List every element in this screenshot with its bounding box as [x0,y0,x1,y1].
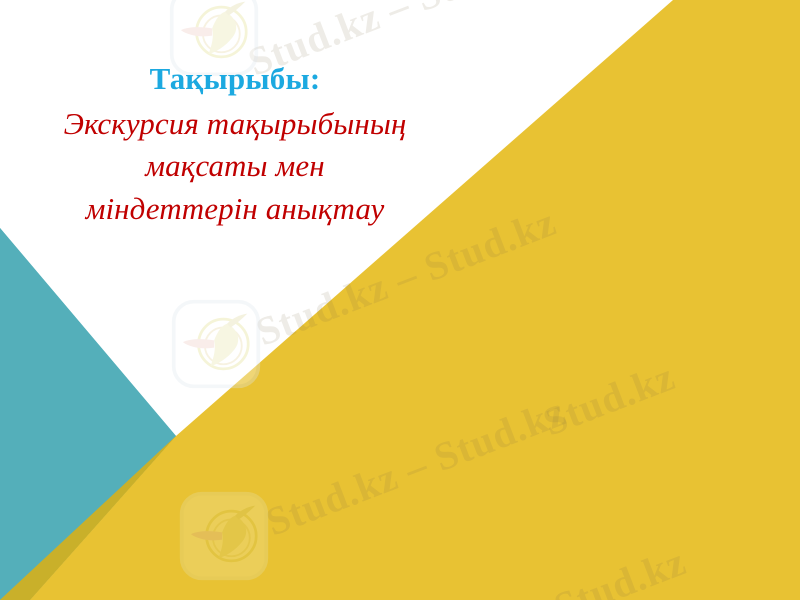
slide-body-line-3: міндеттерін анықтау [0,188,470,231]
teal-corner-triangle-top [0,228,176,600]
slide-canvas: Stud.kz – Stud.kz Stud.kz – Stud.kz Stud… [0,0,800,600]
slide-heading: Тақырыбы: [0,62,470,97]
slide-body-line-1: Экскурсия тақырыбының [0,103,470,146]
slide-text-block: Тақырыбы: Экскурсия тақырыбының мақсаты … [0,62,470,231]
slide-body-line-2: мақсаты мен [0,145,470,188]
